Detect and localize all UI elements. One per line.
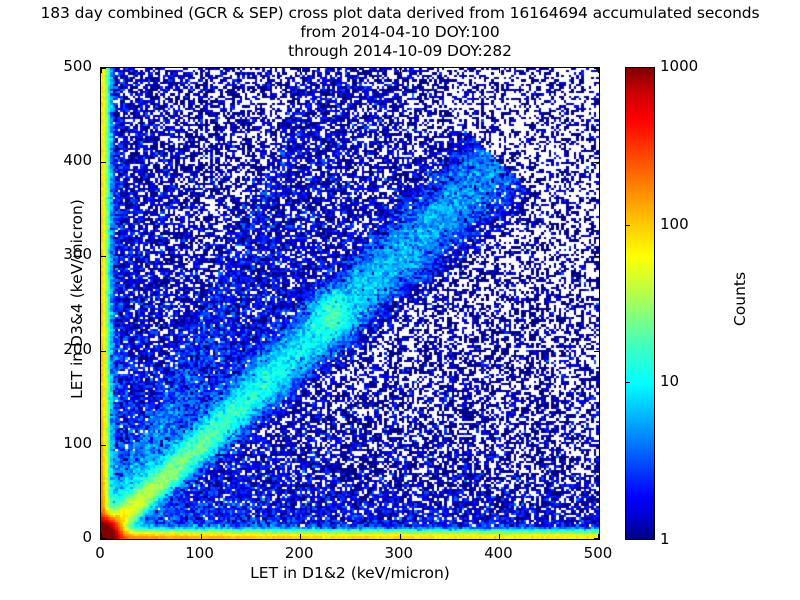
y-tick-mark [594, 68, 599, 69]
y-axis-label: LET in D3&4 (keV/micron) [68, 149, 86, 449]
colorbar-tick-label: 1000 [660, 57, 698, 75]
y-tick-mark [594, 445, 599, 446]
x-tick-label: 500 [558, 544, 638, 562]
colorbar-tick-label: 100 [660, 215, 689, 233]
y-tick-mark [594, 351, 599, 352]
x-tick-mark [201, 68, 202, 73]
x-tick-label: 400 [458, 544, 538, 562]
heatmap-scatter-layer [101, 68, 599, 539]
x-tick-mark [201, 534, 202, 539]
title-line-1: 183 day combined (GCR & SEP) cross plot … [0, 4, 800, 23]
colorbar-gradient [625, 67, 655, 540]
colorbar-tick-mark [625, 225, 630, 226]
title-line-2: from 2014-04-10 DOY:100 [0, 23, 800, 42]
x-tick-mark [300, 68, 301, 73]
plot-area [100, 67, 600, 540]
y-tick-mark [101, 445, 106, 446]
y-tick-mark [101, 68, 106, 69]
y-tick-mark [594, 162, 599, 163]
x-tick-mark [300, 534, 301, 539]
x-tick-mark [400, 68, 401, 73]
y-tick-mark [594, 538, 599, 539]
colorbar-tick-label: 10 [660, 372, 679, 390]
x-tick-label: 0 [60, 544, 140, 562]
y-tick-mark [101, 162, 106, 163]
x-tick-mark [499, 534, 500, 539]
colorbar [625, 67, 655, 540]
figure-canvas: 183 day combined (GCR & SEP) cross plot … [0, 0, 800, 600]
x-tick-label: 200 [259, 544, 339, 562]
x-tick-mark [400, 534, 401, 539]
colorbar-tick-mark [625, 382, 630, 383]
y-tick-label: 500 [22, 57, 92, 75]
x-tick-mark [499, 68, 500, 73]
x-tick-label: 100 [160, 544, 240, 562]
y-tick-mark [594, 256, 599, 257]
colorbar-tick-label: 1 [660, 530, 670, 548]
figure-title: 183 day combined (GCR & SEP) cross plot … [0, 4, 800, 61]
y-tick-mark [101, 256, 106, 257]
x-tick-label: 300 [359, 544, 439, 562]
x-axis-label: LET in D1&2 (keV/micron) [100, 564, 600, 582]
colorbar-label: Counts [731, 199, 749, 399]
y-tick-mark [101, 351, 106, 352]
y-tick-label: 0 [22, 528, 92, 546]
y-tick-mark [101, 538, 106, 539]
